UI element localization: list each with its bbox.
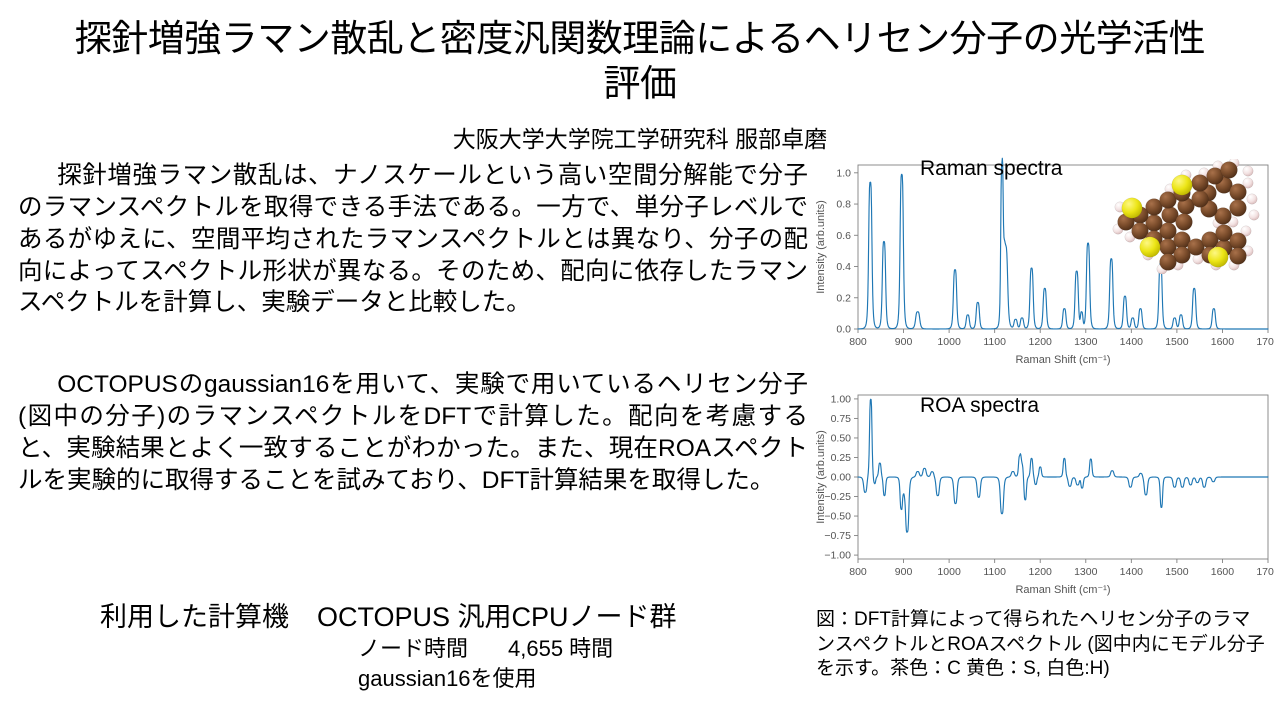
svg-text:900: 900 bbox=[895, 336, 913, 348]
helicene-molecule-model bbox=[1058, 159, 1263, 274]
svg-text:1600: 1600 bbox=[1211, 336, 1235, 348]
svg-text:0.2: 0.2 bbox=[836, 292, 851, 304]
svg-text:1600: 1600 bbox=[1211, 566, 1235, 578]
carbon-atom bbox=[1192, 175, 1209, 192]
raman-spectra-chart: 800900100011001200130014001500160017000.… bbox=[812, 155, 1274, 377]
svg-text:−0.25: −0.25 bbox=[824, 491, 851, 503]
svg-text:−0.50: −0.50 bbox=[824, 511, 851, 523]
svg-text:1000: 1000 bbox=[937, 566, 961, 578]
hydrogen-atom bbox=[1249, 210, 1259, 220]
roa-spectra-chart: 80090010001100120013001400150016001700−1… bbox=[812, 385, 1274, 607]
paragraph-intro: 探針増強ラマン散乱は、ナノスケールという高い空間分解能で分子のラマンスペクトルを… bbox=[18, 160, 808, 319]
svg-text:Raman Shift (cm⁻¹): Raman Shift (cm⁻¹) bbox=[1015, 354, 1110, 366]
svg-text:1500: 1500 bbox=[1165, 336, 1189, 348]
molecule-svg bbox=[1058, 159, 1263, 274]
svg-text:900: 900 bbox=[895, 566, 913, 578]
svg-text:1500: 1500 bbox=[1165, 566, 1189, 578]
sulfur-atom bbox=[1122, 198, 1142, 218]
svg-text:1300: 1300 bbox=[1074, 566, 1098, 578]
svg-text:1400: 1400 bbox=[1120, 336, 1144, 348]
carbon-atom bbox=[1230, 184, 1247, 201]
svg-text:0.8: 0.8 bbox=[836, 199, 851, 211]
sulfur-atom bbox=[1208, 247, 1228, 267]
svg-text:1.00: 1.00 bbox=[831, 394, 852, 406]
carbon-atom bbox=[1160, 254, 1177, 271]
compute-resource-label: 利用した計算機 bbox=[100, 595, 289, 634]
author-affiliation: 大阪大学大学院工学研究科 服部卓磨 bbox=[60, 120, 1220, 154]
svg-text:1700: 1700 bbox=[1256, 566, 1274, 578]
svg-text:Intensity (arb.units): Intensity (arb.units) bbox=[815, 430, 827, 524]
carbon-atom bbox=[1221, 162, 1238, 179]
svg-text:1700: 1700 bbox=[1256, 336, 1274, 348]
svg-text:1200: 1200 bbox=[1029, 566, 1053, 578]
svg-text:0.6: 0.6 bbox=[836, 230, 851, 242]
carbon-atom bbox=[1230, 200, 1247, 217]
carbon-atom bbox=[1192, 191, 1209, 208]
carbon-atom bbox=[1230, 248, 1247, 265]
sulfur-atom bbox=[1140, 237, 1160, 257]
svg-text:0.25: 0.25 bbox=[831, 452, 852, 464]
svg-text:800: 800 bbox=[849, 566, 867, 578]
software-used: gaussian16を使用 bbox=[358, 664, 820, 694]
roa-chart-svg: 80090010001100120013001400150016001700−1… bbox=[812, 385, 1274, 607]
svg-text:1300: 1300 bbox=[1074, 336, 1098, 348]
paragraph-calculation: OCTOPUSのgaussian16を用いて、実験で用いているヘリセン分子(図中… bbox=[18, 369, 808, 496]
svg-text:0.4: 0.4 bbox=[836, 261, 851, 273]
svg-text:0.00: 0.00 bbox=[831, 472, 852, 484]
svg-text:1400: 1400 bbox=[1120, 566, 1144, 578]
svg-text:1.0: 1.0 bbox=[836, 167, 851, 179]
svg-text:−1.00: −1.00 bbox=[824, 550, 851, 562]
svg-text:1100: 1100 bbox=[983, 566, 1006, 578]
compute-resource-block: 利用した計算機 OCTOPUS 汎用CPUノード群 ノード時間 4,655 時間… bbox=[100, 595, 820, 693]
page-title: 探針増強ラマン散乱と密度汎関数理論によるヘリセン分子の光学活性評価 bbox=[60, 16, 1220, 106]
svg-text:1000: 1000 bbox=[937, 336, 961, 348]
svg-text:1200: 1200 bbox=[1029, 336, 1053, 348]
figure-caption: 図：DFT計算によって得られたヘリセン分子のラマンスペクトルとROAスペクトル … bbox=[816, 608, 1268, 682]
figure-column: 800900100011001200130014001500160017000.… bbox=[812, 155, 1274, 607]
hydrogen-atom bbox=[1243, 166, 1253, 176]
hydrogen-atom bbox=[1247, 194, 1257, 204]
slide-root: 探針増強ラマン散乱と密度汎関数理論によるヘリセン分子の光学活性評価 大阪大学大学… bbox=[0, 0, 1280, 720]
carbon-atom bbox=[1230, 233, 1247, 250]
svg-text:−0.75: −0.75 bbox=[824, 530, 851, 542]
svg-text:0.75: 0.75 bbox=[831, 413, 852, 425]
carbon-atom bbox=[1176, 214, 1193, 231]
svg-text:Raman Shift (cm⁻¹): Raman Shift (cm⁻¹) bbox=[1015, 584, 1110, 596]
svg-text:Intensity (arb.units): Intensity (arb.units) bbox=[815, 200, 827, 294]
svg-text:1100: 1100 bbox=[983, 336, 1006, 348]
svg-text:800: 800 bbox=[849, 336, 867, 348]
svg-text:0.50: 0.50 bbox=[831, 433, 852, 445]
node-hours-value: 4,655 時間 bbox=[508, 634, 613, 664]
body-text-column: 探針増強ラマン散乱は、ナノスケールという高い空間分解能で分子のラマンスペクトルを… bbox=[18, 160, 808, 497]
sulfur-atom bbox=[1172, 175, 1192, 195]
svg-text:0.0: 0.0 bbox=[836, 324, 851, 336]
compute-resource-name: OCTOPUS 汎用CPUノード群 bbox=[317, 595, 677, 634]
node-hours-label: ノード時間 bbox=[358, 634, 508, 664]
